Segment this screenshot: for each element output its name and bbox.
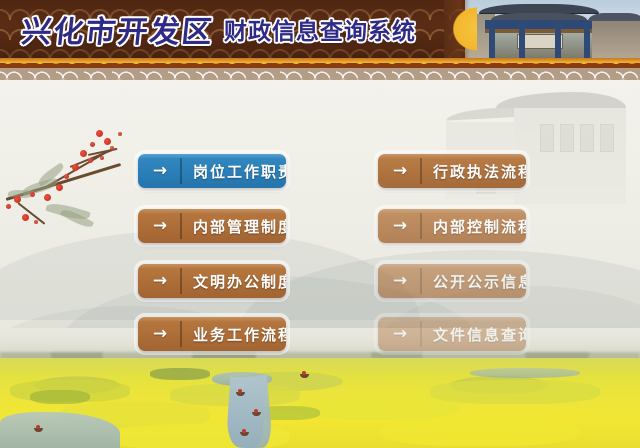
band-gold-stripe (0, 58, 640, 63)
archway-column (489, 20, 495, 58)
menu-button-document-query[interactable]: → 文件信息查询 (378, 317, 526, 351)
menu-button-internal-control[interactable]: → 内部控制流程 (378, 209, 526, 243)
app-root: 兴化市开发区 财政信息查询系统 (0, 0, 640, 448)
archway-side-building (592, 18, 640, 58)
arrow-right-icon: → (138, 209, 182, 243)
menu-button-public-disclosure[interactable]: → 公开公示信息 (378, 264, 526, 298)
menu-grid: → 岗位工作职责 → 内部管理制度 → 文明办公制度 → 业务工作流程 → 行政… (0, 80, 640, 448)
menu-button-job-duties[interactable]: → 岗位工作职责 (138, 154, 286, 188)
archway-roof (479, 4, 599, 13)
menu-button-label: 岗位工作职责 (182, 161, 286, 182)
arrow-right-icon: → (138, 317, 182, 351)
menu-button-business-workflow[interactable]: → 业务工作流程 (138, 317, 286, 351)
archway-column (584, 20, 590, 58)
site-title-block: 兴化市开发区 财政信息查询系统 (22, 4, 472, 54)
menu-button-internal-management[interactable]: → 内部管理制度 (138, 209, 286, 243)
arrow-right-icon: → (138, 154, 182, 188)
paifang-archway-icon (479, 4, 599, 58)
menu-button-administrative-enforcement[interactable]: → 行政执法流程 (378, 154, 526, 188)
arrow-right-icon: → (378, 154, 422, 188)
arrow-right-icon: → (378, 317, 422, 351)
main-canvas: → 岗位工作职责 → 内部管理制度 → 文明办公制度 → 业务工作流程 → 行政… (0, 80, 640, 448)
archway-column (555, 20, 561, 58)
header-archway-photo (465, 0, 640, 58)
arrow-right-icon: → (138, 264, 182, 298)
archway-beam-lower (485, 29, 593, 33)
archway-beam (485, 20, 593, 29)
menu-button-label: 行政执法流程 (422, 161, 526, 182)
menu-button-label: 文件信息查询 (422, 324, 526, 345)
menu-button-label: 文明办公制度 (182, 271, 286, 292)
page-subtitle: 财政信息查询系统 (224, 12, 416, 46)
arrow-right-icon: → (378, 264, 422, 298)
menu-button-label: 业务工作流程 (182, 324, 286, 345)
page-title: 兴化市开发区 (20, 7, 217, 51)
menu-button-civilized-office[interactable]: → 文明办公制度 (138, 264, 286, 298)
arrow-right-icon: → (378, 209, 422, 243)
menu-button-label: 公开公示信息 (422, 271, 526, 292)
menu-button-label: 内部管理制度 (182, 216, 286, 237)
menu-button-label: 内部控制流程 (422, 216, 526, 237)
archway-roof-second (491, 13, 587, 20)
site-header: 兴化市开发区 财政信息查询系统 (0, 0, 640, 58)
archway-column (519, 20, 525, 58)
